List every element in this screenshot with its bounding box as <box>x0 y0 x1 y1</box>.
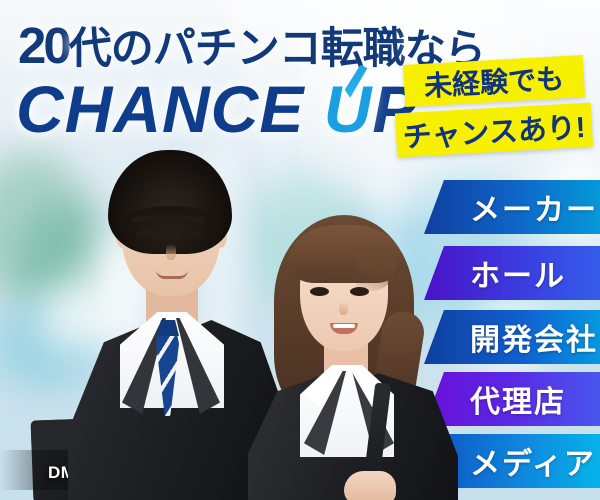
category-button-hall[interactable]: ホール <box>424 246 600 300</box>
category-button-developer[interactable]: 開発会社 <box>424 310 600 364</box>
eye <box>136 230 156 238</box>
chance-up-logo: CHANCE UP <box>16 76 417 142</box>
category-button-maker[interactable]: メーカー <box>424 180 600 234</box>
hair-bangs <box>288 225 402 283</box>
headline-number: 20 <box>18 17 69 74</box>
page-title: 20代のパチンコ転職なら <box>18 20 485 71</box>
headline-main: 代のパチンコ転職 <box>69 25 405 73</box>
logo-u-glyph: U <box>324 72 373 146</box>
category-button-agency[interactable]: 代理店 <box>424 372 600 426</box>
hand <box>344 471 396 500</box>
logo-chance-text: CHANCE <box>16 72 324 146</box>
eye <box>350 287 369 296</box>
hair <box>108 150 232 254</box>
eye <box>180 230 200 238</box>
nose <box>166 244 176 260</box>
logo-u-letter: U <box>324 76 373 142</box>
eye <box>310 287 329 296</box>
mouth <box>156 270 188 279</box>
nose <box>339 301 348 315</box>
banner-advertisement[interactable]: 20代のパチンコ転職なら CHANCE UP 未経験でも チャンスあり! メーカ… <box>0 0 600 500</box>
